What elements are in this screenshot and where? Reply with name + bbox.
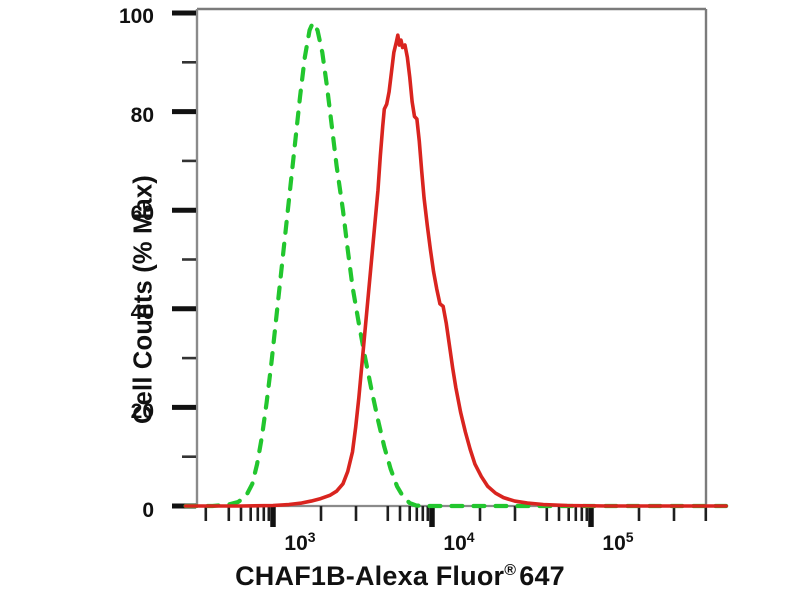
- histogram-plot-area: [0, 0, 800, 600]
- flow-cytometry-figure: Cell Counts (% Max) 0 20 40 60 80 100 10…: [0, 0, 800, 600]
- histogram-trace-negative-control: [186, 23, 727, 506]
- histogram-curves: [186, 23, 727, 506]
- histogram-trace-chaf1b-stained: [186, 35, 727, 506]
- y-axis-minor-ticks: [182, 62, 196, 456]
- plot-frame: [197, 9, 706, 506]
- x-axis-minor-ticks: [206, 506, 706, 521]
